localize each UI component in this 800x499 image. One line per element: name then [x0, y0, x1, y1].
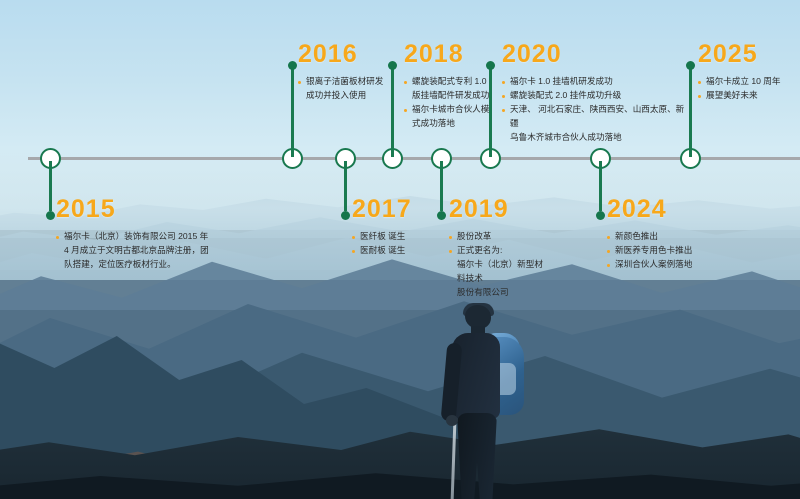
bullet-list-2025: 福尔卡成立 10 周年展望美好未来: [698, 75, 798, 103]
timeline-stem-2025: [689, 65, 692, 157]
timeline-stem-dot-2017: [341, 211, 350, 220]
bullet-item: 新颜色推出: [607, 230, 737, 244]
hiker-silhouette: [430, 305, 540, 499]
timeline-stem-2020: [489, 65, 492, 157]
bullet-list-2015: 福尔卡（北京）装饰有限公司 2015 年 4 月成立于文明古都北京品牌注册，团 …: [56, 230, 221, 272]
bullet-item: 福尔卡成立 10 周年: [698, 75, 798, 89]
timeline-stem-dot-2025: [686, 61, 695, 70]
timeline-stem-dot-2015: [46, 211, 55, 220]
year-label-2024: 2024: [607, 197, 737, 222]
timeline-stem-2017: [344, 161, 347, 211]
bullet-item: 股份改革: [449, 230, 549, 244]
hiker-hand: [446, 415, 458, 426]
timeline-entry-2025[interactable]: 2025福尔卡成立 10 周年展望美好未来: [698, 42, 798, 103]
bullet-item: 天津、 河北石家庄、陕西西安、山西太原、新疆 乌鲁木齐城市合伙人成功落地: [502, 103, 692, 145]
bullet-item: 银离子洁菌板材研发 成功并投入使用: [298, 75, 394, 103]
timeline-stem-2018: [391, 65, 394, 157]
bullet-list-2020: 福尔卡 1.0 挂墙机研发成功螺旋装配式 2.0 挂件成功升级天津、 河北石家庄…: [502, 75, 692, 145]
timeline-entry-2020[interactable]: 2020福尔卡 1.0 挂墙机研发成功螺旋装配式 2.0 挂件成功升级天津、 河…: [502, 42, 692, 145]
bullet-item: 展望美好未来: [698, 89, 798, 103]
timeline-stem-dot-2019: [437, 211, 446, 220]
bullet-list-2017: 医纤板 诞生医耐板 诞生: [352, 230, 448, 258]
timeline-stem-dot-2020: [486, 61, 495, 70]
timeline-infographic: 2015福尔卡（北京）装饰有限公司 2015 年 4 月成立于文明古都北京品牌注…: [0, 0, 800, 499]
timeline-stem-dot-2024: [596, 211, 605, 220]
timeline-stem-2019: [440, 161, 443, 211]
trekking-pole: [450, 417, 456, 499]
bullet-item: 福尔卡（北京）装饰有限公司 2015 年 4 月成立于文明古都北京品牌注册，团 …: [56, 230, 221, 272]
bullet-item: 福尔卡 1.0 挂墙机研发成功: [502, 75, 692, 89]
timeline-stem-dot-2018: [388, 61, 397, 70]
year-label-2019: 2019: [449, 197, 549, 222]
timeline-entry-2019[interactable]: 2019股份改革正式更名为: 福尔卡（北京）新型材料技术 股份有限公司: [449, 197, 549, 300]
timeline-entry-2024[interactable]: 2024新颜色推出新医养专用色卡推出深圳合伙人案例落地: [607, 197, 737, 272]
timeline-entry-2015[interactable]: 2015福尔卡（北京）装饰有限公司 2015 年 4 月成立于文明古都北京品牌注…: [56, 197, 221, 272]
year-label-2025: 2025: [698, 42, 798, 67]
bullet-list-2016: 银离子洁菌板材研发 成功并投入使用: [298, 75, 394, 103]
year-label-2020: 2020: [502, 42, 692, 67]
hiker-legs: [457, 413, 497, 499]
bullet-item: 医纤板 诞生: [352, 230, 448, 244]
timeline-stem-dot-2016: [288, 61, 297, 70]
timeline-entry-2017[interactable]: 2017医纤板 诞生医耐板 诞生: [352, 197, 448, 258]
timeline-stem-2015: [49, 161, 52, 211]
year-label-2016: 2016: [298, 42, 394, 67]
year-label-2015: 2015: [56, 197, 221, 222]
bullet-list-2019: 股份改革正式更名为: 福尔卡（北京）新型材料技术 股份有限公司: [449, 230, 549, 300]
bullet-list-2024: 新颜色推出新医养专用色卡推出深圳合伙人案例落地: [607, 230, 737, 272]
bullet-item: 螺旋装配式 2.0 挂件成功升级: [502, 89, 692, 103]
bullet-item: 深圳合伙人案例落地: [607, 258, 737, 272]
bullet-item: 新医养专用色卡推出: [607, 244, 737, 258]
timeline-entry-2016[interactable]: 2016银离子洁菌板材研发 成功并投入使用: [298, 42, 394, 103]
year-label-2017: 2017: [352, 197, 448, 222]
bullet-item: 医耐板 诞生: [352, 244, 448, 258]
timeline-stem-2016: [291, 65, 294, 157]
bullet-item: 正式更名为: 福尔卡（北京）新型材料技术 股份有限公司: [449, 244, 549, 300]
timeline-stem-2024: [599, 161, 602, 211]
